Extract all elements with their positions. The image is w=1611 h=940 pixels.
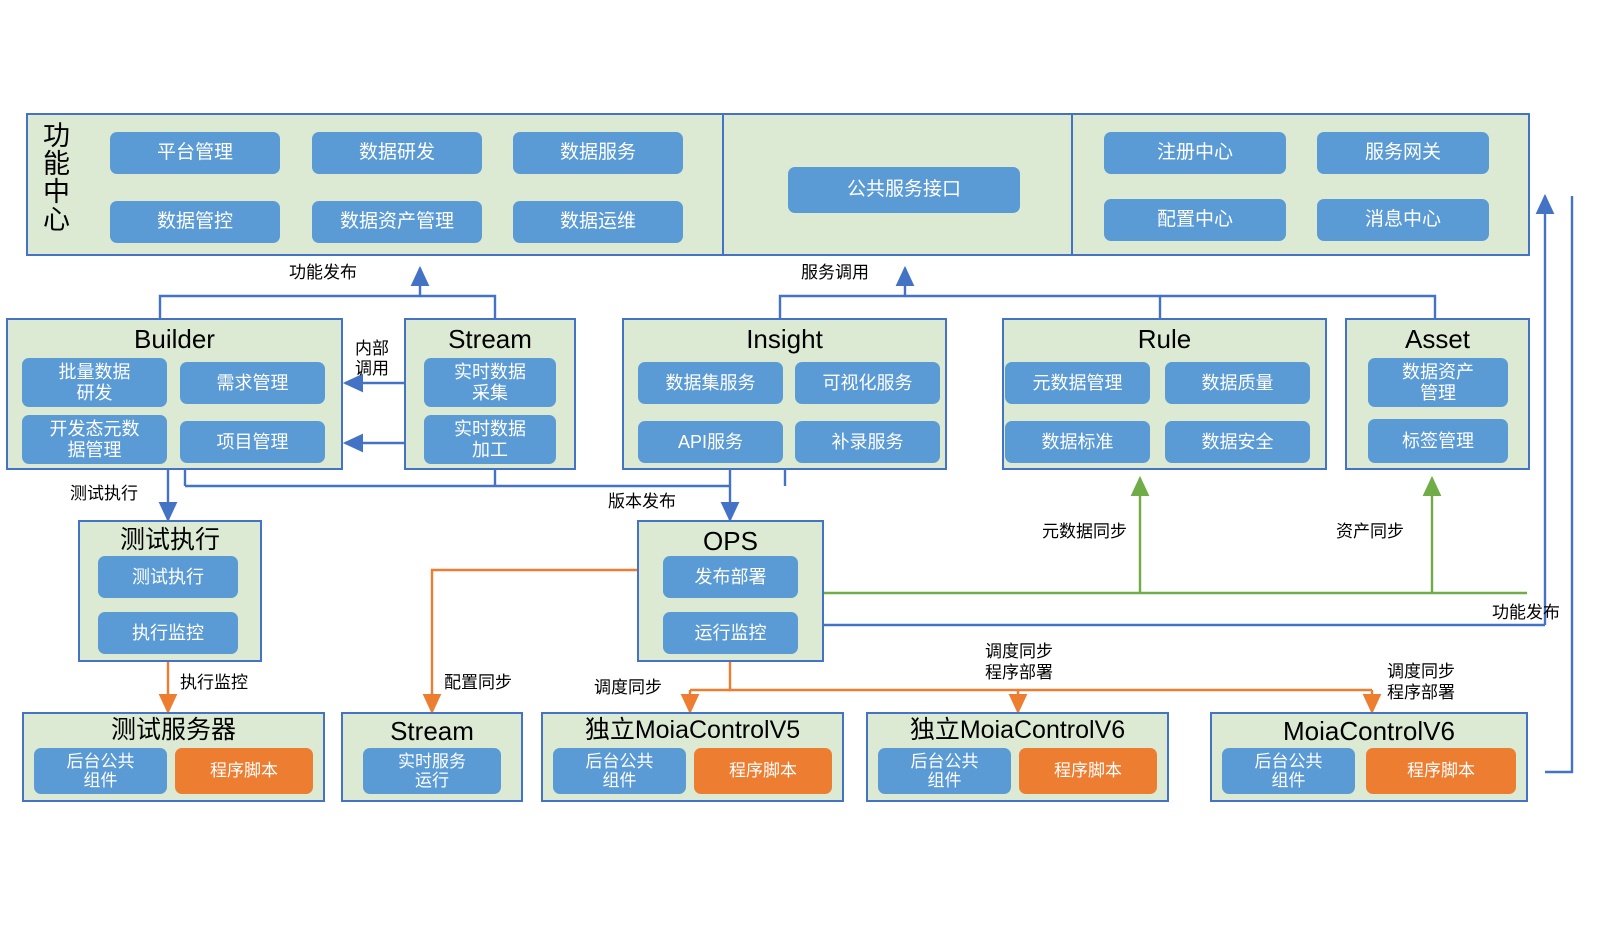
pill-platform-management[interactable]: 平台管理 [110,132,280,174]
pill-data-asset-management-2[interactable]: 数据资产 管理 [1368,358,1508,407]
pill-requirement-management[interactable]: 需求管理 [180,362,325,404]
edge-label-schedule-sync-deploy-2: 调度同步 程序部署 [1366,661,1476,704]
architecture-diagram: 功能中心 平台管理 数据研发 数据服务 数据管控 数据资产管理 数据运维 公共服… [0,0,1611,940]
pill-backend-common-component-2[interactable]: 后台公共 组件 [553,748,686,794]
pill-execution-monitoring[interactable]: 执行监控 [98,612,238,654]
insight-title: Insight [624,326,945,352]
pill-dataset-service[interactable]: 数据集服务 [638,362,783,404]
pill-api-service[interactable]: API服务 [638,421,783,463]
pill-realtime-service-running[interactable]: 实时服务 运行 [363,748,501,794]
pill-program-script-2[interactable]: 程序脚本 [694,748,832,794]
pill-data-service[interactable]: 数据服务 [513,132,683,174]
pill-public-service-interface[interactable]: 公共服务接口 [788,167,1020,213]
pill-realtime-data-collection[interactable]: 实时数据 采集 [424,358,556,407]
pill-release-deployment[interactable]: 发布部署 [663,556,798,598]
edge-label-schedule-sync: 调度同步 [594,678,662,698]
pill-backend-common-component-3[interactable]: 后台公共 组件 [878,748,1011,794]
builder-title: Builder [8,326,341,352]
pill-data-governance[interactable]: 数据管控 [110,201,280,243]
edge-label-config-sync: 配置同步 [444,673,512,693]
rule-title: Rule [1004,326,1325,352]
pill-data-standard[interactable]: 数据标准 [1005,421,1150,463]
test-server-title: 测试服务器 [24,718,323,743]
pill-data-asset-management[interactable]: 数据资产管理 [312,201,482,243]
standalone-moiacontrolv6-title: 独立MoiaControlV6 [868,718,1167,743]
pill-registry-center[interactable]: 注册中心 [1104,132,1286,174]
pill-data-development[interactable]: 数据研发 [312,132,482,174]
pill-visualization-service[interactable]: 可视化服务 [795,362,940,404]
pill-metadata-management[interactable]: 元数据管理 [1005,362,1150,404]
pill-config-center[interactable]: 配置中心 [1104,199,1286,241]
pill-backend-common-component-1[interactable]: 后台公共 组件 [34,748,167,794]
pill-runtime-monitoring[interactable]: 运行监控 [663,612,798,654]
standalone-moiacontrolv5-title: 独立MoiaControlV5 [543,718,842,743]
moiacontrolv6-title: MoiaControlV6 [1212,718,1526,744]
edge-label-metadata-sync: 元数据同步 [1042,522,1127,542]
pill-tag-management[interactable]: 标签管理 [1368,419,1508,463]
edge-label-asset-sync: 资产同步 [1336,522,1404,542]
pill-backend-common-component-4[interactable]: 后台公共 组件 [1222,748,1355,794]
pill-program-script-1[interactable]: 程序脚本 [175,748,313,794]
edge-label-function-publish: 功能发布 [289,263,357,283]
edge-label-test-execute: 测试执行 [70,484,138,504]
pill-data-quality[interactable]: 数据质量 [1165,362,1310,404]
pill-program-script-4[interactable]: 程序脚本 [1366,748,1516,794]
pill-message-center[interactable]: 消息中心 [1317,199,1489,241]
pill-dev-metadata-management[interactable]: 开发态元数 据管理 [22,415,167,464]
stream-title: Stream [406,326,574,352]
edge-label-version-publish: 版本发布 [608,492,676,512]
edge-label-internal-call: 内部 调用 [341,339,403,378]
edge-label-function-publish-right: 功能发布 [1468,603,1560,623]
pill-project-management[interactable]: 项目管理 [180,421,325,463]
stream-server-title: Stream [343,718,521,744]
edge-label-execute-monitor: 执行监控 [180,673,248,693]
asset-title: Asset [1347,326,1528,352]
pill-service-gateway[interactable]: 服务网关 [1317,132,1489,174]
test-execution-title: 测试执行 [80,528,260,553]
pill-program-script-3[interactable]: 程序脚本 [1019,748,1157,794]
edge-label-service-call: 服务调用 [801,263,869,283]
pill-batch-data-development[interactable]: 批量数据 研发 [22,358,167,407]
pill-data-security[interactable]: 数据安全 [1165,421,1310,463]
pill-data-operations[interactable]: 数据运维 [513,201,683,243]
edge-label-schedule-sync-deploy: 调度同步 程序部署 [964,641,1074,684]
pill-test-execution[interactable]: 测试执行 [98,556,238,598]
pill-supplement-service[interactable]: 补录服务 [795,421,940,463]
ops-title: OPS [639,528,822,554]
function-center-title: 功能中心 [40,121,67,249]
pill-realtime-data-processing[interactable]: 实时数据 加工 [424,415,556,464]
